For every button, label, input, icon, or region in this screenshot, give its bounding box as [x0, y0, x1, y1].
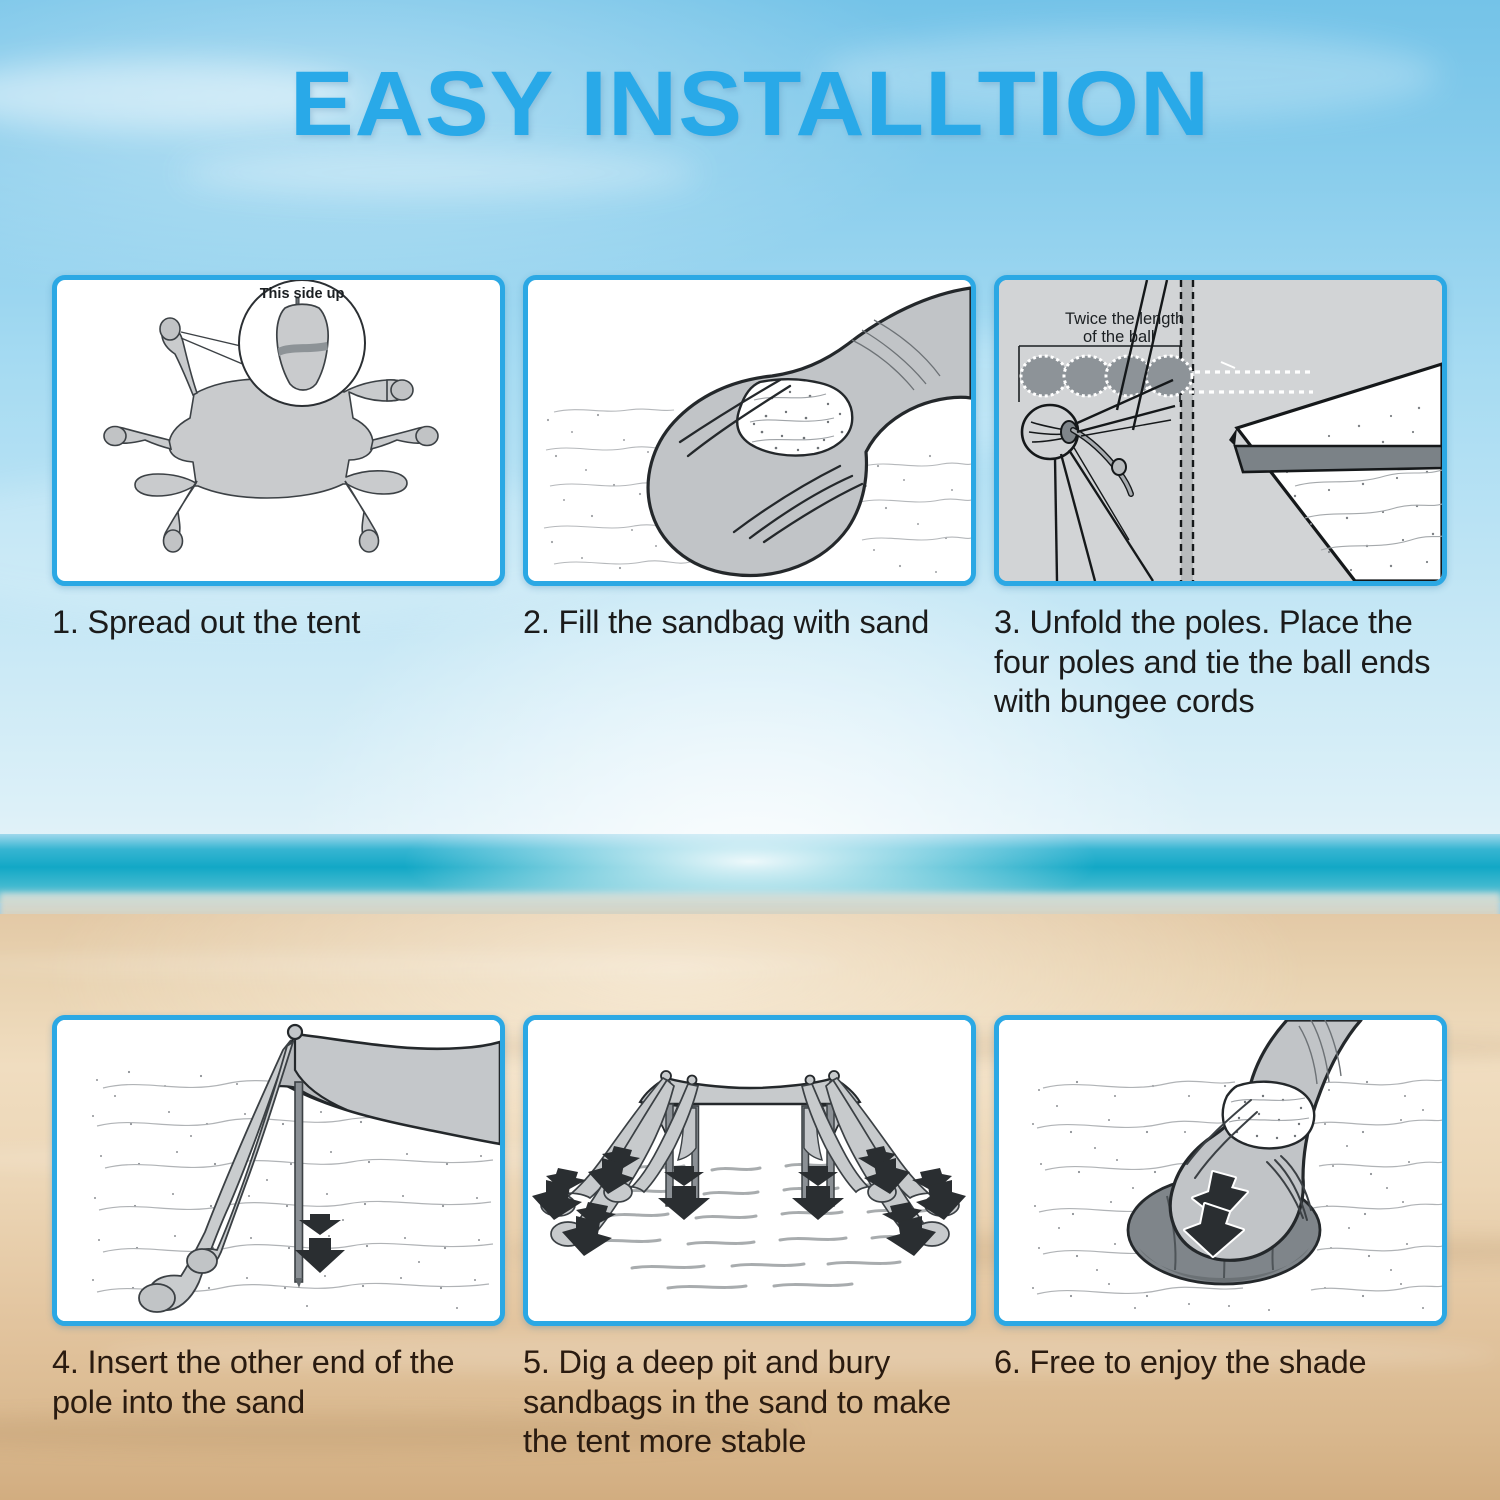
step-2-illustration-panel: [523, 275, 976, 586]
step-3-caption: 3. Unfold the poles. Place the four pole…: [994, 603, 1447, 722]
step-card-1: This side up 1. Spread out the tent: [52, 275, 505, 722]
tent-spread-flat-icon: This side up: [57, 280, 500, 581]
assembled-beach-tent-icon: [528, 1020, 971, 1321]
step-5-illustration-panel: [523, 1015, 976, 1326]
step-card-5: 5. Dig a deep pit and bury sandbags in t…: [523, 1015, 976, 1462]
step-4-illustration-panel: [52, 1015, 505, 1326]
step-card-2: 2. Fill the sandbag with sand: [523, 275, 976, 722]
instruction-grid: This side up 1. Spread out the tent: [52, 275, 1448, 1462]
step-card-3: Twice the length of the ball: [994, 275, 1447, 722]
this-side-up-annotation: This side up: [260, 286, 345, 302]
ball-end-bungee-cord-diagram-icon: Twice the length of the ball: [999, 280, 1442, 581]
step-6-caption: 6. Free to enjoy the shade: [994, 1343, 1447, 1383]
step-3-illustration-panel: Twice the length of the ball: [994, 275, 1447, 586]
step-2-caption: 2. Fill the sandbag with sand: [523, 603, 976, 643]
step-4-caption: 4. Insert the other end of the pole into…: [52, 1343, 505, 1422]
step-6-illustration-panel: [994, 1015, 1447, 1326]
twice-the-length-annotation-line2: of the ball: [1083, 328, 1155, 346]
step-card-6: 6. Free to enjoy the shade: [994, 1015, 1447, 1462]
page-title: EASY INSTALLTION: [0, 52, 1500, 157]
step-5-caption: 5. Dig a deep pit and bury sandbags in t…: [523, 1343, 976, 1462]
twice-the-length-annotation-line1: Twice the length: [1065, 310, 1184, 328]
sandbag-filled-with-sand-icon: [528, 280, 971, 581]
step-1-caption: 1. Spread out the tent: [52, 603, 505, 643]
step-card-4: 4. Insert the other end of the pole into…: [52, 1015, 505, 1462]
sandbag-buried-in-pit-icon: [999, 1020, 1442, 1321]
step-1-illustration-panel: This side up: [52, 275, 505, 586]
pole-inserted-into-sand-icon: [57, 1020, 500, 1321]
